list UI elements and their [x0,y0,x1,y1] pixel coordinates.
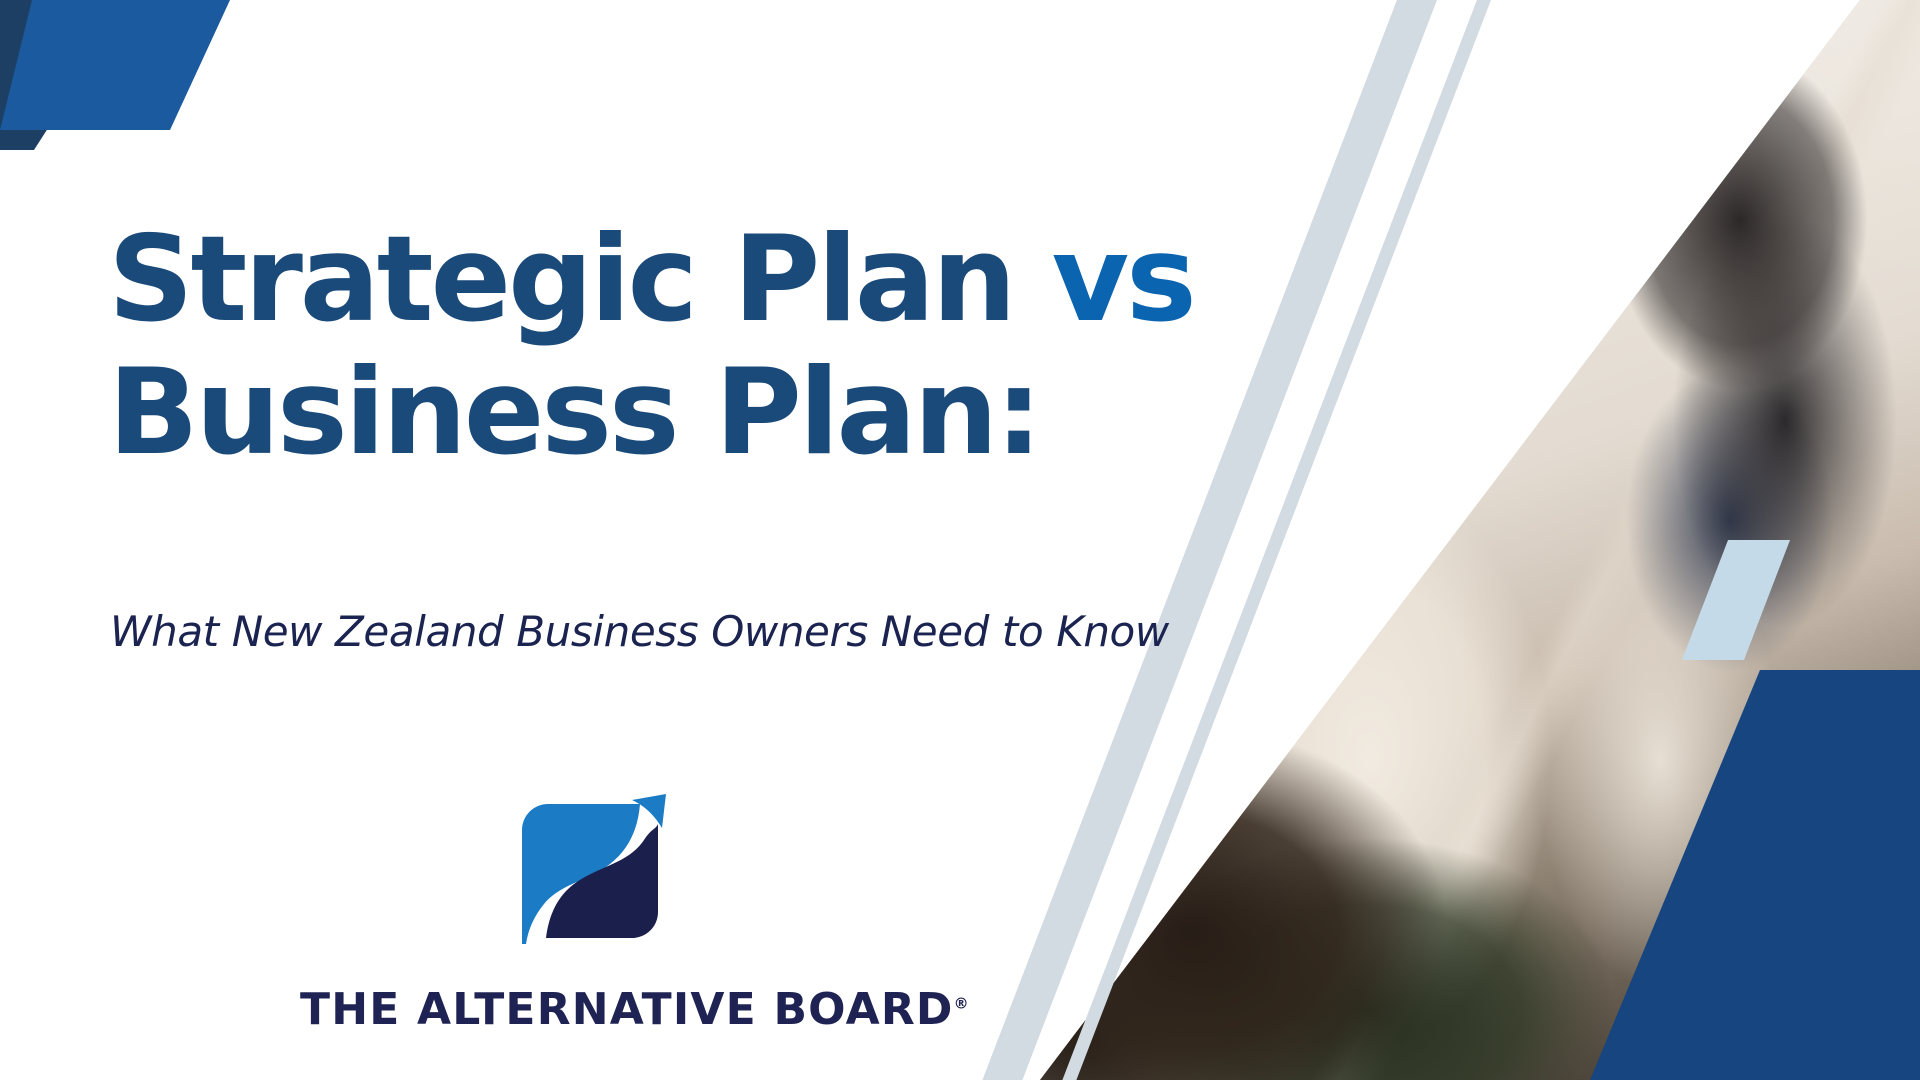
alternative-board-logo-icon [504,786,676,956]
page-title: Strategic Plan vs Business Plan: [108,214,1194,481]
headline-line-2: Business Plan: [108,347,1194,480]
headline-line-1: Strategic Plan vs [108,214,1194,347]
registered-trademark-icon: ® [954,994,969,1012]
marketing-banner: Strategic Plan vs Business Plan: What Ne… [0,0,1920,1080]
brand-wordmark: THE ALTERNATIVE BOARD® [300,984,880,1035]
corner-accent-blue [0,0,230,130]
page-subtitle: What New Zealand Business Owners Need to… [110,607,1169,656]
brand-lockup: THE ALTERNATIVE BOARD® [300,786,880,1035]
headline-line-1-text: Strategic Plan [108,211,1052,349]
headline-vs-word: vs [1052,211,1194,349]
brand-wordmark-text: THE ALTERNATIVE BOARD [300,984,954,1035]
